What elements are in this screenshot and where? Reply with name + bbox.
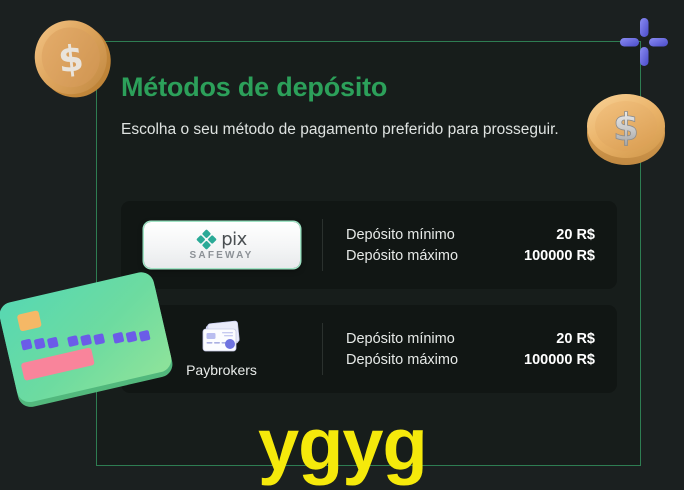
max-deposit-label: Depósito máximo: [346, 352, 458, 368]
pix-wordmark: pix: [221, 231, 247, 249]
payment-methods-list: pix SAFEWAY Depósito mínimo 20 R$ Depósi…: [121, 201, 617, 393]
payment-method-pix-safeway[interactable]: pix SAFEWAY Depósito mínimo 20 R$ Depósi…: [121, 201, 617, 289]
min-deposit-label: Depósito mínimo: [346, 227, 455, 243]
min-deposit-label: Depósito mínimo: [346, 331, 455, 347]
paybrokers-limits: Depósito mínimo 20 R$ Depósito máximo 10…: [322, 331, 617, 368]
max-deposit-value: 100000 R$: [524, 248, 595, 264]
page-title: Métodos de depósito: [121, 72, 387, 103]
paybrokers-logo-area[interactable]: Paybrokers: [121, 305, 322, 393]
page-subtitle: Escolha o seu método de pagamento prefer…: [121, 118, 571, 142]
max-deposit-label: Depósito máximo: [346, 248, 458, 264]
pix-limits: Depósito mínimo 20 R$ Depósito máximo 10…: [322, 227, 617, 264]
pix-logo-area[interactable]: pix SAFEWAY: [121, 201, 322, 289]
table-row: Depósito mínimo 20 R$: [346, 227, 595, 243]
pix-logo-chip: pix SAFEWAY: [144, 222, 300, 268]
pix-diamond-icon: [196, 229, 217, 250]
table-row: Depósito mínimo 20 R$: [346, 331, 595, 347]
pix-safeway-label: SAFEWAY: [190, 251, 254, 261]
bank-cards-icon: [198, 320, 246, 356]
min-deposit-value: 20 R$: [556, 227, 595, 243]
table-row: Depósito máximo 100000 R$: [346, 248, 595, 264]
paybrokers-label: Paybrokers: [186, 362, 257, 378]
payment-method-paybrokers[interactable]: Paybrokers Depósito mínimo 20 R$ Depósit…: [121, 305, 617, 393]
screen-root: Métodos de depósito Escolha o seu método…: [0, 0, 684, 490]
overlay-text: ygyg: [258, 408, 427, 482]
paybrokers-logo-wrap: Paybrokers: [186, 320, 257, 378]
table-row: Depósito máximo 100000 R$: [346, 352, 595, 368]
pix-logo-mark-row: pix: [196, 229, 247, 250]
max-deposit-value: 100000 R$: [524, 352, 595, 368]
min-deposit-value: 20 R$: [556, 331, 595, 347]
svg-text:$: $: [56, 38, 85, 81]
